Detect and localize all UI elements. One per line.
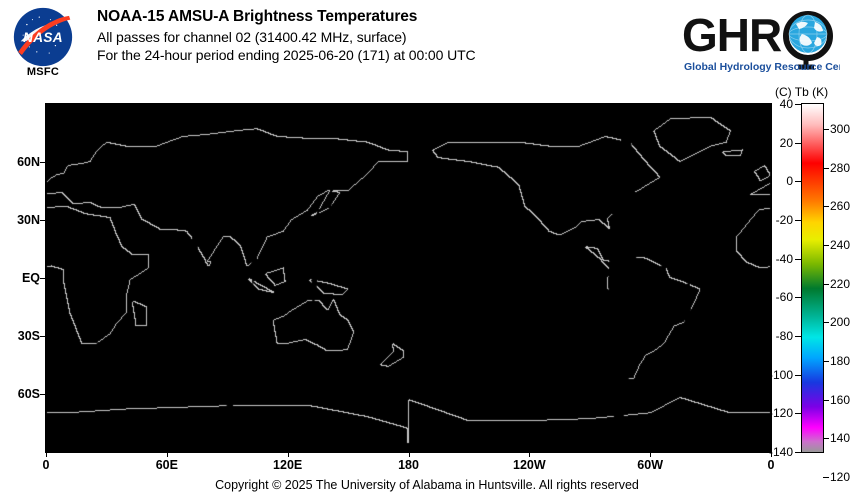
x-axis-tick <box>650 452 651 457</box>
y-axis-tick <box>40 220 45 221</box>
colorbar-label-celsius: -20 <box>776 213 793 227</box>
subtitle-channel: All passes for channel 02 (31400.42 MHz,… <box>97 29 476 45</box>
nasa-logo-icon: NASA <box>12 6 74 68</box>
y-axis-tick <box>40 162 45 163</box>
y-axis-label: 60S <box>18 387 40 401</box>
colorbar-tick-kelvin <box>823 322 829 323</box>
colorbar-label-kelvin: 260 <box>830 199 850 213</box>
colorbar-tick-kelvin <box>823 361 829 362</box>
colorbar-tick-kelvin <box>823 477 829 478</box>
colorbar-tick-celsius <box>795 336 801 337</box>
x-axis-label: 0 <box>768 458 775 472</box>
colorbar-label-kelvin: 300 <box>830 122 850 136</box>
colorbar-label-celsius: -100 <box>769 368 793 382</box>
y-axis-label: 60N <box>17 155 40 169</box>
colorbar-label-celsius: -140 <box>769 445 793 459</box>
x-axis-label: 120W <box>513 458 546 472</box>
colorbar-label-celsius: 0 <box>786 174 793 188</box>
colorbar-tick-celsius <box>795 220 801 221</box>
title-block: NOAA-15 AMSU-A Brightness Temperatures A… <box>97 8 476 65</box>
colorbar-tick-celsius <box>795 104 801 105</box>
colorbar-label-kelvin: 240 <box>830 238 850 252</box>
msfc-label: MSFC <box>12 66 74 78</box>
colorbar-label-celsius: -80 <box>776 329 793 343</box>
colorbar-label-kelvin: 160 <box>830 393 850 407</box>
y-axis-tick <box>40 278 45 279</box>
x-axis-label: 180 <box>398 458 419 472</box>
colorbar-tick-celsius <box>795 143 801 144</box>
ghrc-subtext: Global Hydrology Resource Center <box>684 61 840 73</box>
y-axis-label: 30S <box>18 329 40 343</box>
colorbar-tick-kelvin <box>823 168 829 169</box>
x-axis-label: 60W <box>637 458 663 472</box>
colorbar-label-celsius: -40 <box>776 252 793 266</box>
x-axis-label: 60E <box>156 458 178 472</box>
colorbar-tick-celsius <box>795 413 801 414</box>
colorbar-label-kelvin: 120 <box>830 470 850 484</box>
colorbar-tick-kelvin <box>823 206 829 207</box>
copyright-notice: Copyright © 2025 The University of Alaba… <box>0 478 854 492</box>
colorbar-label-celsius: 40 <box>780 97 793 111</box>
y-axis-label: 30N <box>17 213 40 227</box>
ghrc-logo-icon: GHR Global Hydrology Resource Center <box>680 4 840 76</box>
brightness-temperature-heatmap <box>46 104 771 452</box>
x-axis-tick <box>409 452 410 457</box>
x-axis-tick <box>46 452 47 457</box>
y-axis-tick <box>40 394 45 395</box>
colorbar-tick-kelvin <box>823 284 829 285</box>
page-title: NOAA-15 AMSU-A Brightness Temperatures <box>97 8 476 26</box>
x-axis-tick <box>167 452 168 457</box>
colorbar-label-celsius: -120 <box>769 406 793 420</box>
y-axis-tick <box>40 336 45 337</box>
colorbar[interactable] <box>801 103 824 453</box>
svg-text:NASA: NASA <box>23 30 63 45</box>
colorbar-tick-celsius <box>795 452 801 453</box>
x-axis-label: 120E <box>273 458 302 472</box>
subtitle-period: For the 24-hour period ending 2025-06-20… <box>97 47 476 63</box>
colorbar-tick-celsius <box>795 259 801 260</box>
colorbar-tick-kelvin <box>823 129 829 130</box>
colorbar-tick-kelvin <box>823 400 829 401</box>
svg-text:GHR: GHR <box>682 9 782 61</box>
y-axis-label: EQ <box>22 271 40 285</box>
colorbar-label-kelvin: 180 <box>830 354 850 368</box>
colorbar-label-celsius: -60 <box>776 290 793 304</box>
x-axis-tick <box>288 452 289 457</box>
map-plot-area[interactable] <box>45 103 772 453</box>
colorbar-tick-kelvin <box>823 245 829 246</box>
colorbar-label-kelvin: 220 <box>830 277 850 291</box>
colorbar-label-kelvin: 280 <box>830 161 850 175</box>
colorbar-label-kelvin: 140 <box>830 431 850 445</box>
colorbar-tick-celsius <box>795 297 801 298</box>
colorbar-gradient <box>802 104 823 452</box>
x-axis-tick <box>529 452 530 457</box>
colorbar-tick-kelvin <box>823 438 829 439</box>
colorbar-label-kelvin: 200 <box>830 315 850 329</box>
colorbar-tick-celsius <box>795 375 801 376</box>
colorbar-label-celsius: 20 <box>780 136 793 150</box>
x-axis-label: 0 <box>43 458 50 472</box>
colorbar-tick-celsius <box>795 181 801 182</box>
